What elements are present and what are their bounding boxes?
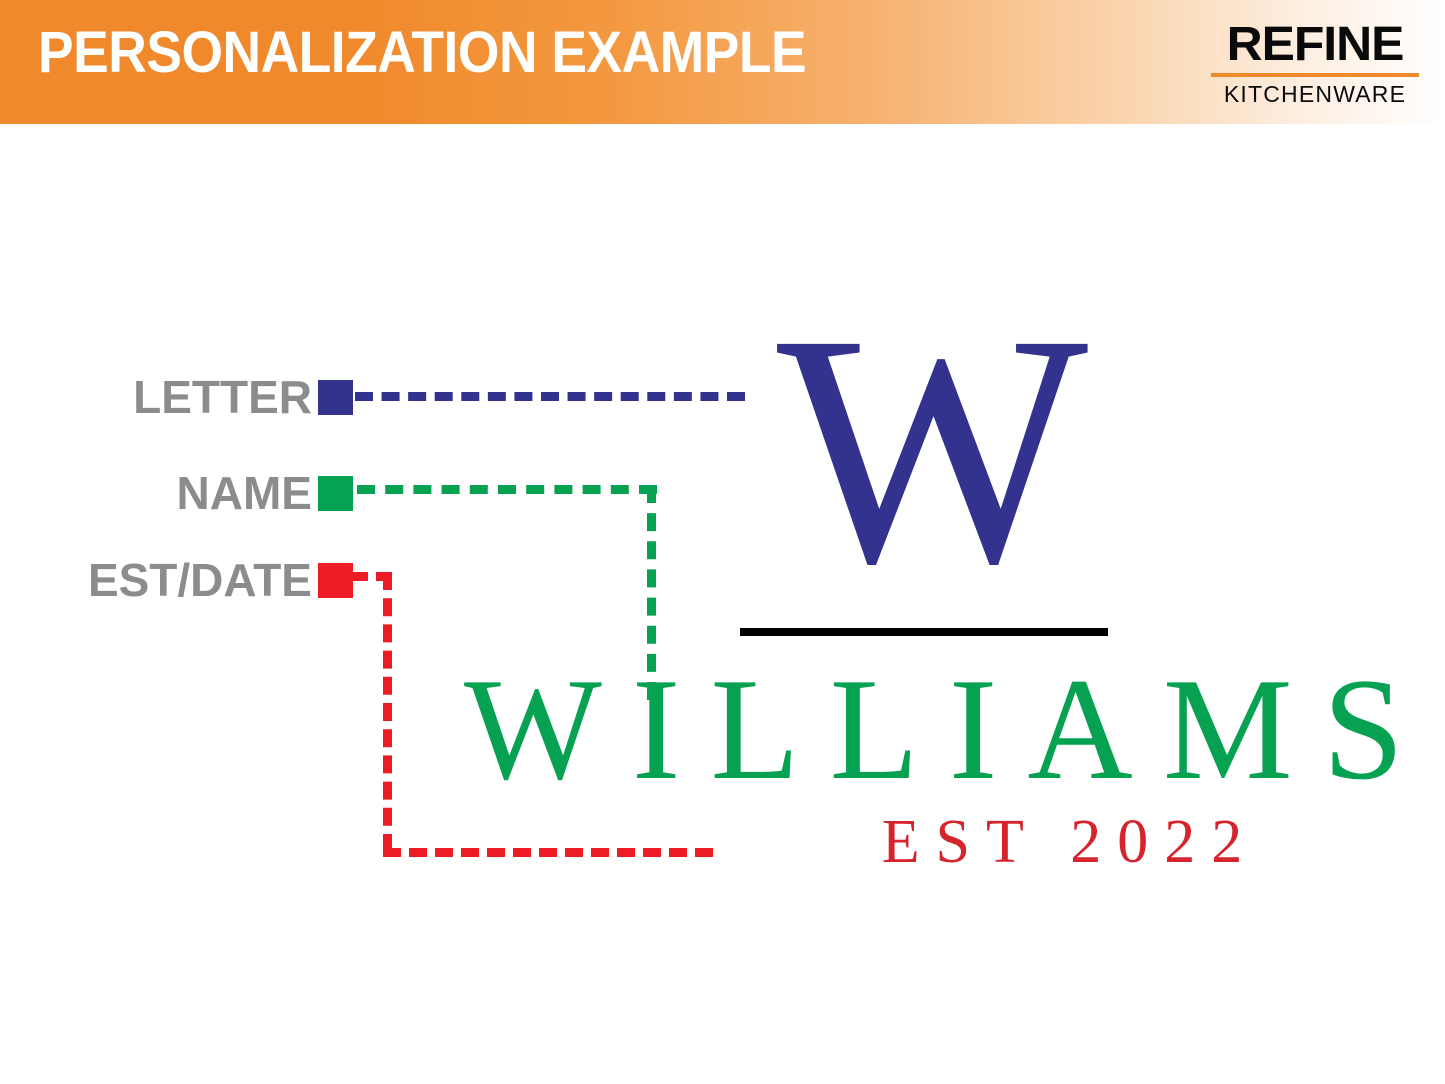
legend-item-name: NAME [40,470,353,516]
brand-logo-secondary-text: KITCHENWARE [1211,81,1419,107]
legend-label-name: NAME [177,470,312,516]
monogram-established: EST 2022 [740,810,1400,874]
legend-label-letter: LETTER [133,374,312,420]
brand-logo-primary-text: REFINE [1207,20,1423,70]
monogram-preview: W WILLIAMS EST 2022 [440,300,1400,874]
monogram-surname: WILLIAMS [464,654,1400,804]
monogram-initial: W [465,300,1400,600]
brand-logo: REFINE KITCHENWARE [1211,20,1419,107]
page-title: PERSONALIZATION EXAMPLE [38,24,806,82]
legend-swatch-est-date [318,563,353,598]
connector-est-vertical [383,572,392,852]
legend-item-letter: LETTER [40,374,353,420]
legend-swatch-letter [318,380,353,415]
brand-logo-divider [1211,73,1419,77]
legend-label-est-date: EST/DATE [88,557,312,603]
legend-swatch-name [318,476,353,511]
legend-item-est-date: EST/DATE [40,557,353,603]
